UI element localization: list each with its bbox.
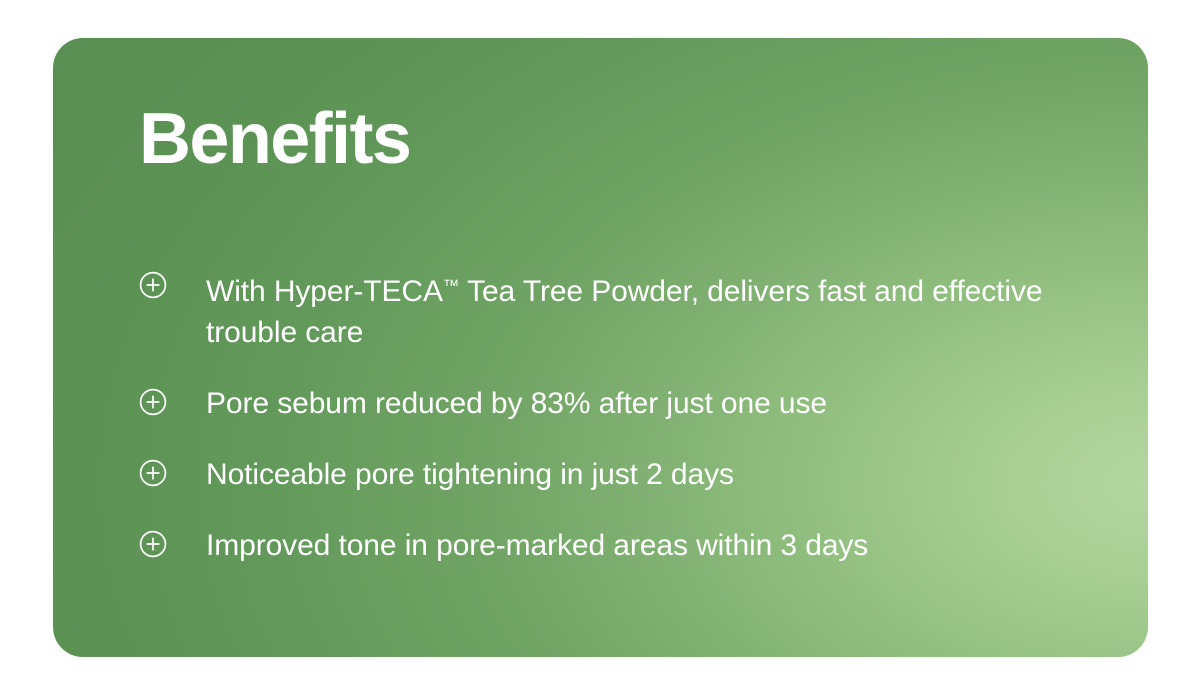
list-item-label: With Hyper-TECA™ Tea Tree Powder, delive… xyxy=(206,266,1051,353)
circle-plus-icon xyxy=(139,388,167,416)
benefits-card: Benefits With Hyper-TECA™ Tea Tree Powde… xyxy=(53,38,1148,657)
circle-plus-icon xyxy=(139,530,167,558)
benefits-list: With Hyper-TECA™ Tea Tree Powder, delive… xyxy=(139,266,1084,566)
list-item: With Hyper-TECA™ Tea Tree Powder, delive… xyxy=(139,266,1084,353)
list-item-label: Pore sebum reduced by 83% after just one… xyxy=(206,383,827,424)
list-item: Improved tone in pore-marked areas withi… xyxy=(139,525,1084,566)
list-item-label: Improved tone in pore-marked areas withi… xyxy=(206,525,868,566)
trademark-symbol: ™ xyxy=(443,277,460,295)
list-item-label: Noticeable pore tightening in just 2 day… xyxy=(206,454,734,495)
page-canvas: Benefits With Hyper-TECA™ Tea Tree Powde… xyxy=(0,0,1200,700)
list-item-label-part-1: With Hyper-TECA xyxy=(206,275,443,308)
circle-plus-icon xyxy=(139,459,167,487)
circle-plus-icon xyxy=(139,271,167,299)
list-item: Pore sebum reduced by 83% after just one… xyxy=(139,383,1084,424)
page-title: Benefits xyxy=(139,98,1084,180)
list-item: Noticeable pore tightening in just 2 day… xyxy=(139,454,1084,495)
